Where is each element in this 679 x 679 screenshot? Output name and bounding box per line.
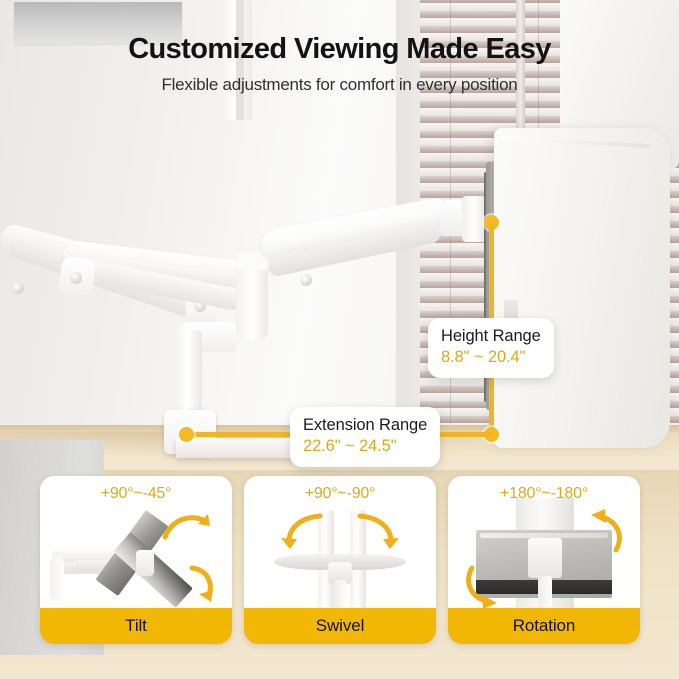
arm-knob-top (300, 274, 312, 286)
callout-extension-range: Extension Range 22.6" ~ 24.5" (290, 407, 440, 467)
swivel-arm-neck (334, 580, 346, 608)
feature-card-tilt[interactable]: +90°~-45° Tilt (40, 476, 232, 644)
monitor-rear-shell (494, 128, 670, 448)
vesa-mount-plate (462, 196, 486, 242)
feature-card-swivel-label: Swivel (244, 608, 436, 644)
height-callout-leader-line (489, 222, 494, 322)
rotation-vesa-plate (528, 538, 562, 578)
feature-card-rotation[interactable]: +180°~-180° Rotation (448, 476, 640, 644)
callout-height-title: Height Range (441, 326, 541, 346)
feature-card-swivel-angle: +90°~-90° (244, 485, 436, 503)
callout-extension-value: 22.6" ~ 24.5" (303, 436, 427, 457)
infographic-canvas: Customized Viewing Made Easy Flexible ad… (0, 0, 679, 679)
feature-card-rotation-illustration: +180°~-180° (448, 476, 640, 608)
page-title: Customized Viewing Made Easy (0, 34, 679, 66)
callout-height-range: Height Range 8.8" ~ 20.4" (428, 318, 554, 378)
extension-callout-anchor-dot-left (179, 427, 194, 442)
tilt-arrow-top-icon (162, 510, 212, 544)
callout-height-value: 8.8" ~ 20.4" (441, 347, 541, 368)
arm-knob-left (70, 272, 82, 284)
arm-knob-secondary-end (12, 282, 24, 294)
monitor-arm-mid-cap (236, 252, 268, 270)
header: Customized Viewing Made Easy Flexible ad… (0, 0, 679, 95)
feature-card-tilt-label: Tilt (40, 608, 232, 644)
extension-callout-leader-vertical (489, 372, 494, 434)
rotation-arrow-left-icon (456, 560, 500, 608)
rotation-arrow-right-icon (588, 506, 632, 558)
feature-card-swivel-illustration: +90°~-90° (244, 476, 436, 608)
tilt-pivot-hub (136, 550, 154, 576)
swivel-arrow-left-icon (280, 510, 324, 554)
callout-extension-title: Extension Range (303, 415, 427, 435)
tilt-arrow-bottom-icon (182, 564, 222, 606)
monitor-arm-riser-post (176, 330, 202, 422)
feature-card-swivel[interactable]: +90°~-90° Swivel (244, 476, 436, 644)
page-subtitle: Flexible adjustments for comfort in ever… (0, 75, 679, 95)
feature-cards: +90°~-45° Tilt (40, 476, 640, 644)
feature-card-tilt-illustration: +90°~-45° (40, 476, 232, 608)
feature-card-rotation-label: Rotation (448, 608, 640, 644)
swivel-arrow-right-icon (356, 510, 400, 554)
feature-card-tilt-angle: +90°~-45° (40, 485, 232, 503)
rotation-arm-stalk (538, 576, 552, 608)
tilt-arm-riser (50, 556, 64, 602)
